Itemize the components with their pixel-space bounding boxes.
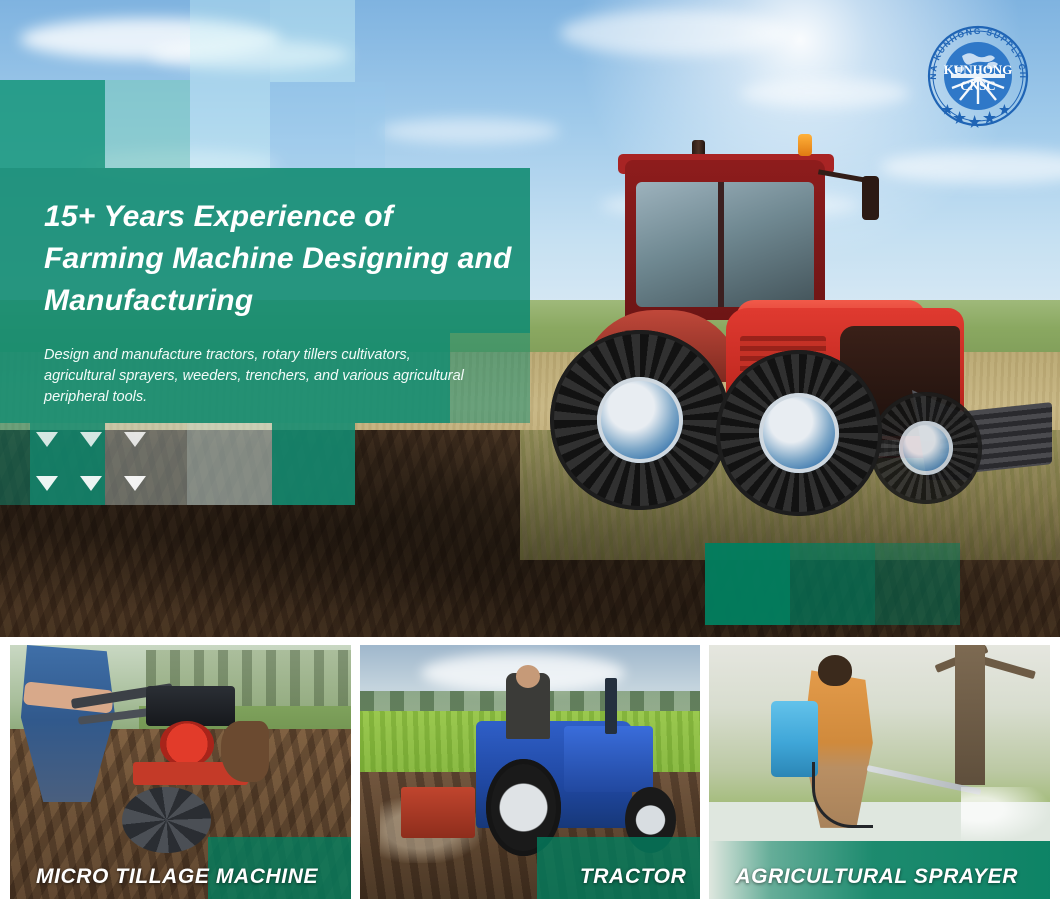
tiller-flywheel: [160, 721, 215, 767]
product-card-label: AGRICULTURAL SPRAYER: [735, 865, 1018, 889]
logo-emblem-icon: KUNHONG CNSC CHINA KUNHONG SUPPLY CHAIN: [918, 16, 1038, 136]
mosaic-tile: [187, 423, 272, 505]
mosaic-tile: [270, 82, 355, 168]
tiller-rotary-tines: [122, 787, 211, 853]
mosaic-tile: [272, 423, 355, 505]
tiller-soil-clod: [221, 721, 269, 782]
product-card-micro-tillage-machine[interactable]: MICRO TILLAGE MACHINE: [10, 645, 351, 899]
mosaic-tile: [270, 0, 355, 82]
product-card-agricultural-sprayer[interactable]: AGRICULTURAL SPRAYER: [709, 645, 1050, 899]
mosaic-tile: [105, 80, 190, 168]
mosaic-tile: [790, 543, 875, 625]
triangle-down-icon: [36, 476, 58, 491]
company-logo: KUNHONG CNSC CHINA KUNHONG SUPPLY CHAIN: [918, 16, 1038, 136]
blue-tractor-hood: [564, 726, 653, 792]
mosaic-tile: [0, 423, 30, 505]
product-card-tractor[interactable]: TRACTOR: [360, 645, 701, 899]
triangle-down-icon: [124, 432, 146, 447]
photo-tree-trunk: [955, 645, 986, 785]
triangle-decoration-grid: [36, 432, 146, 498]
promo-banner: 15+ Years Experience of Farming Machine …: [0, 0, 1060, 903]
photo-farmer-head: [818, 655, 852, 685]
hero-subcopy: Design and manufacture tractors, rotary …: [44, 345, 464, 408]
blue-tractor-exhaust: [605, 678, 617, 734]
mosaic-tile: [355, 82, 385, 168]
logo-secondary-text: CNSC: [960, 78, 995, 93]
product-card-row: MICRO TILLAGE MACHINE TRACTOR: [0, 645, 1060, 903]
spray-mist: [961, 787, 1050, 843]
mosaic-tile: [0, 80, 105, 168]
mosaic-tile: [705, 543, 790, 625]
tiller-engine-cover: [146, 686, 235, 727]
triangle-down-icon: [36, 432, 58, 447]
tractor-implement: [401, 787, 476, 838]
product-card-label: TRACTOR: [580, 865, 686, 889]
mosaic-tile: [875, 543, 960, 625]
logo-primary-text: KUNHONG: [944, 62, 1013, 77]
triangle-down-icon: [80, 476, 102, 491]
mosaic-tile: [190, 0, 270, 168]
triangle-down-icon: [80, 432, 102, 447]
hero-headline: 15+ Years Experience of Farming Machine …: [44, 196, 514, 322]
hero-section: 15+ Years Experience of Farming Machine …: [0, 0, 1060, 637]
triangle-down-icon: [124, 476, 146, 491]
product-card-label: MICRO TILLAGE MACHINE: [36, 865, 318, 889]
